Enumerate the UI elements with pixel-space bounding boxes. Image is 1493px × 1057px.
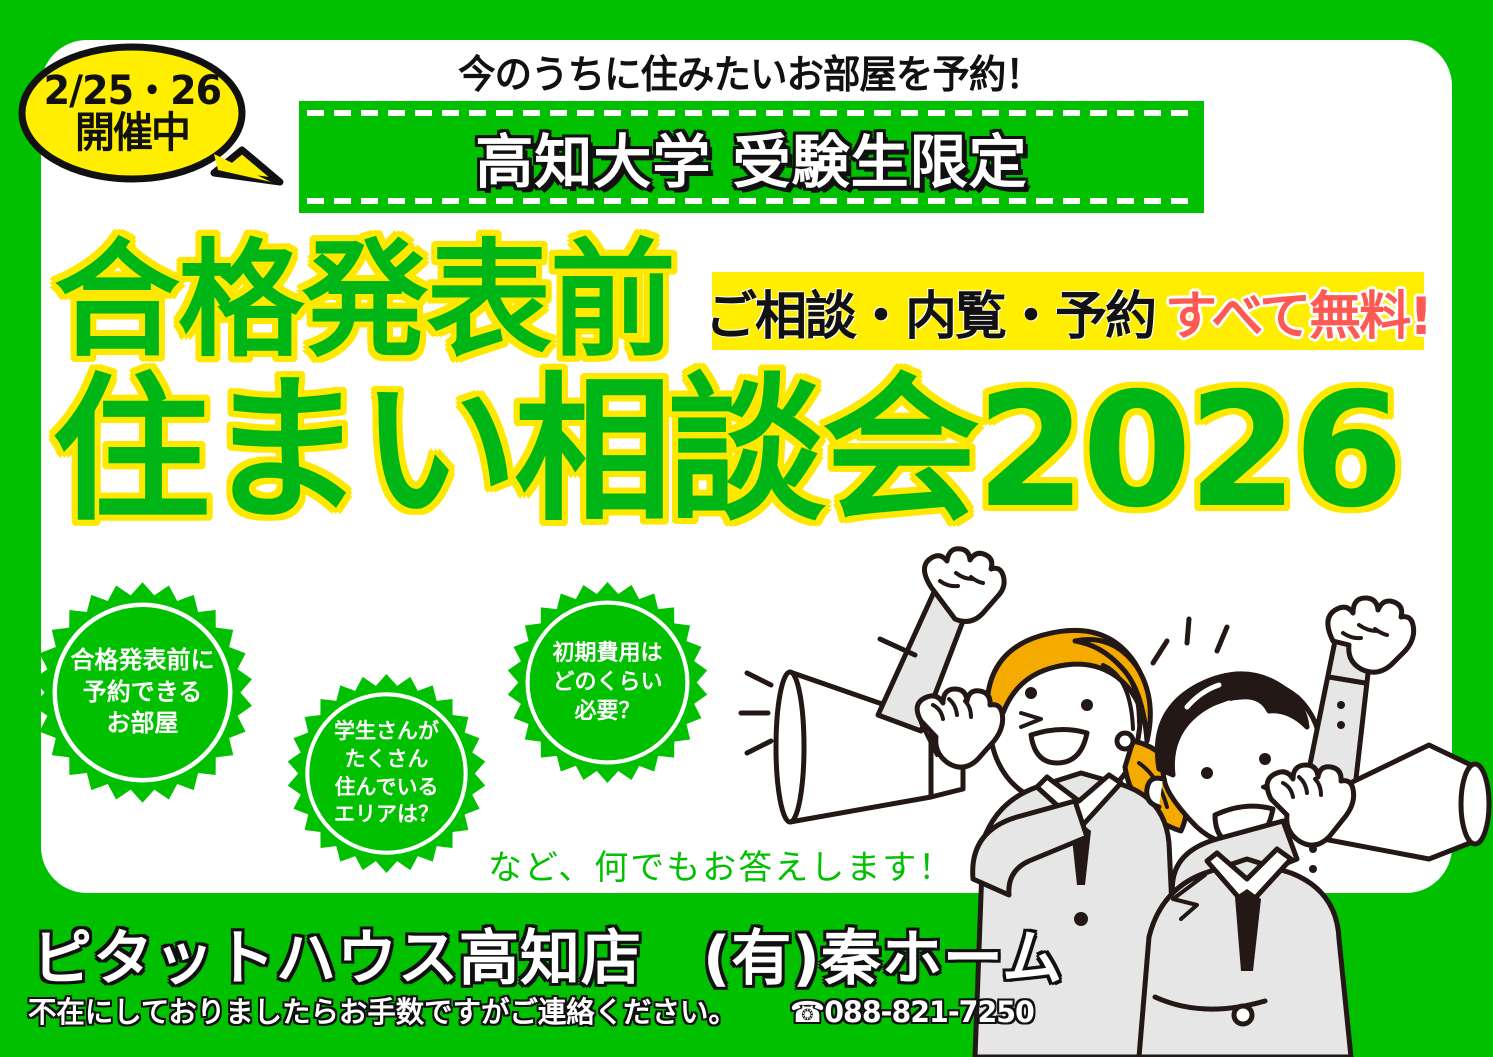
title-line-2: 住まい相談会2026 xyxy=(52,372,1400,530)
event-date-speech-bubble: 2/25・26 開催中 xyxy=(18,42,280,192)
free-services-label: ご相談・内覧・予約 xyxy=(705,274,1155,349)
free-services-box: ご相談・内覧・予約 すべて無料! xyxy=(712,272,1424,350)
answer-anything-text: など、何でもお答えします！ xyxy=(488,840,954,889)
tagline-text: 今のうちに住みたいお部屋を予約！ xyxy=(308,44,1191,100)
contact-line: 不在にしておりましたらお手数ですがご連絡ください。 ☎088-821-7250 xyxy=(28,989,1034,1031)
poster-root: 2/25・26 開催中 今のうちに住みたいお部屋を予約！ 高知大学 受験生限定 … xyxy=(0,0,1493,1057)
footer-bar: ピタットハウス高知店 (有)秦ホーム 不在にしておりましたらお手数ですがご連絡く… xyxy=(0,893,1493,1057)
seal-shape xyxy=(30,580,255,805)
free-price-label: すべて無料! xyxy=(1165,274,1431,349)
speech-bubble-shape xyxy=(18,42,280,192)
shop-name-text: ピタットハウス高知店 (有)秦ホーム xyxy=(32,910,1063,997)
eligibility-banner-text: 高知大学 受験生限定 xyxy=(475,115,1027,199)
seal-shape xyxy=(505,580,710,785)
badge-reserve-before-results: 合格発表前に 予約できる お部屋 xyxy=(30,580,255,805)
badge-initial-cost: 初期費用は どのくらい 必要？ xyxy=(505,580,710,785)
phone-number-text[interactable]: ☎088-821-7250 xyxy=(790,995,1034,1029)
title-line-1: 合格発表前 xyxy=(54,238,674,364)
badge-student-area: 学生さんが たくさん 住んでいる エリアは？ xyxy=(285,672,488,875)
seal-shape xyxy=(285,672,488,875)
contact-note-text: 不在にしておりましたらお手数ですがご連絡ください。 xyxy=(28,995,737,1029)
eligibility-banner: 高知大学 受験生限定 xyxy=(299,101,1204,213)
